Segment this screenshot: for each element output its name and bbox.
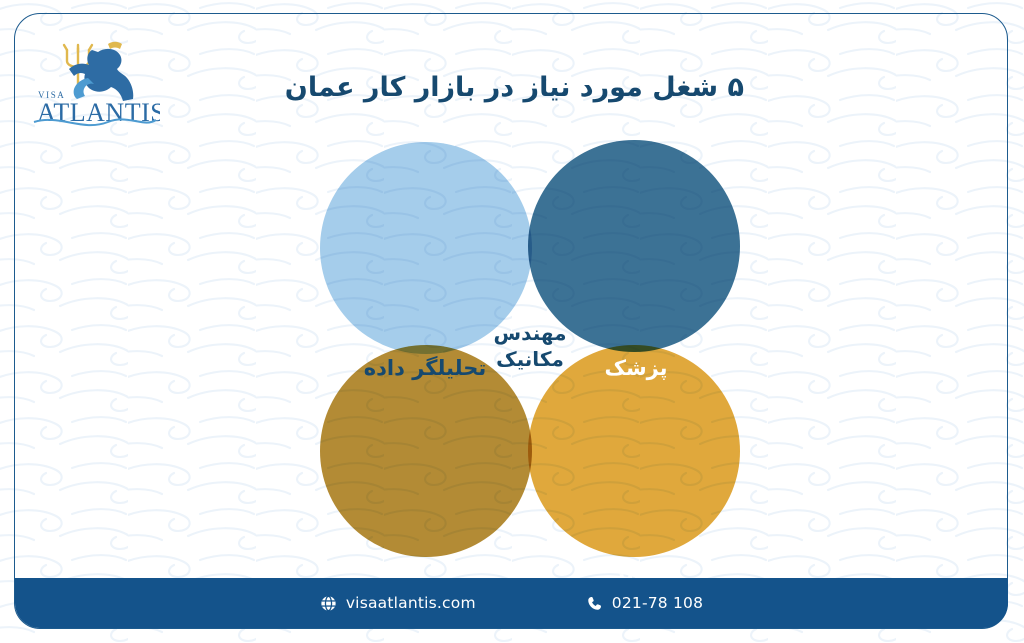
footer-website[interactable]: visaatlantis.com (320, 594, 476, 612)
venn-circle-tourism-manager[interactable] (528, 345, 740, 557)
phone-icon (586, 595, 603, 612)
footer-website-text: visaatlantis.com (346, 594, 476, 612)
footer-bar: visaatlantis.com 021-78 108 (15, 578, 1008, 628)
brand-logo[interactable]: VISA ATLANTIS (32, 36, 160, 128)
footer-phone[interactable]: 021-78 108 (586, 594, 703, 612)
venn-diagram: تحلیلگر داده پزشک معلم مدیر گردشگری مهند… (320, 140, 740, 560)
venn-circle-teacher[interactable] (320, 345, 532, 557)
venn-circle-data-analyst[interactable] (320, 142, 532, 354)
footer-phone-text: 021-78 108 (612, 594, 703, 612)
infographic-poster: VISA ATLANTIS ۵ شغل مورد نیاز در بازار ک… (0, 0, 1024, 643)
globe-icon (320, 595, 337, 612)
page-title: ۵ شغل مورد نیاز در بازار کار عمان (274, 70, 744, 106)
venn-circle-physician[interactable] (528, 140, 740, 352)
